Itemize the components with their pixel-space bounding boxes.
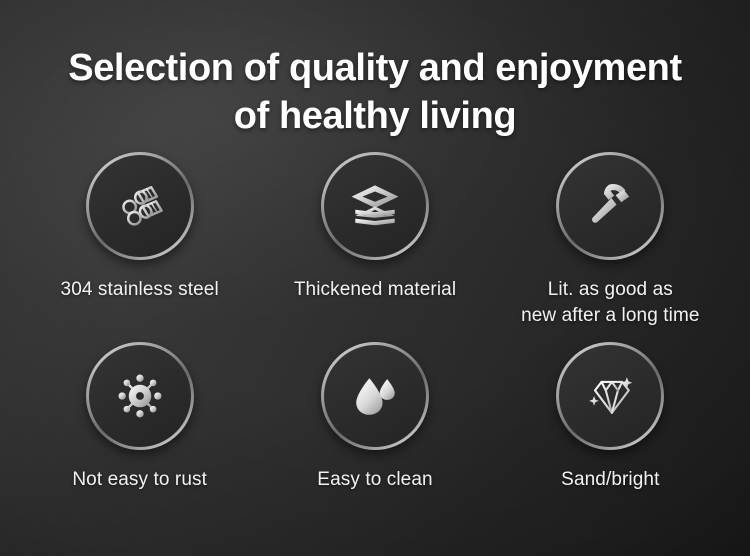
product-feature-banner: Selection of quality and enjoyment of he… [0,0,750,556]
feature-item-stainless-steel: 304 stainless steel [22,152,257,342]
feature-label-line-2: new after a long time [521,303,699,329]
icon-ring [321,152,429,260]
feature-item-thickened-material: Thickened material [257,152,492,342]
banner-title-line-1: Selection of quality and enjoyment [0,44,750,92]
banner-title: Selection of quality and enjoyment of he… [0,44,750,140]
water-drops-icon [345,366,405,426]
steel-pipes-icon [110,176,170,236]
germ-icon [110,366,170,426]
feature-item-sand-bright: Sand/bright [493,342,728,532]
feature-grid: 304 stainless steel [22,152,728,532]
feature-label-line-1: Thickened material [294,277,456,303]
hammer-icon [580,176,640,236]
feature-label-line-1: Easy to clean [317,467,432,493]
feature-label: Lit. as good as new after a long time [521,277,699,329]
icon-ring [86,152,194,260]
diamond-icon [580,366,640,426]
icon-ring [556,342,664,450]
icon-ring [556,152,664,260]
banner-title-line-2: of healthy living [0,92,750,140]
layers-icon [345,176,405,236]
icon-ring [86,342,194,450]
feature-item-rust-resistant: Not easy to rust [22,342,257,532]
feature-label-line-1: Sand/bright [561,467,659,493]
feature-label-line-1: Not easy to rust [72,467,207,493]
feature-label-line-1: 304 stainless steel [61,277,219,303]
icon-ring [321,342,429,450]
feature-label: 304 stainless steel [61,277,219,303]
feature-label: Sand/bright [561,467,659,493]
feature-label: Not easy to rust [72,467,207,493]
feature-item-long-lasting: Lit. as good as new after a long time [493,152,728,342]
feature-item-easy-clean: Easy to clean [257,342,492,532]
feature-label: Thickened material [294,277,456,303]
feature-label-line-1: Lit. as good as [521,277,699,303]
feature-label: Easy to clean [317,467,432,493]
